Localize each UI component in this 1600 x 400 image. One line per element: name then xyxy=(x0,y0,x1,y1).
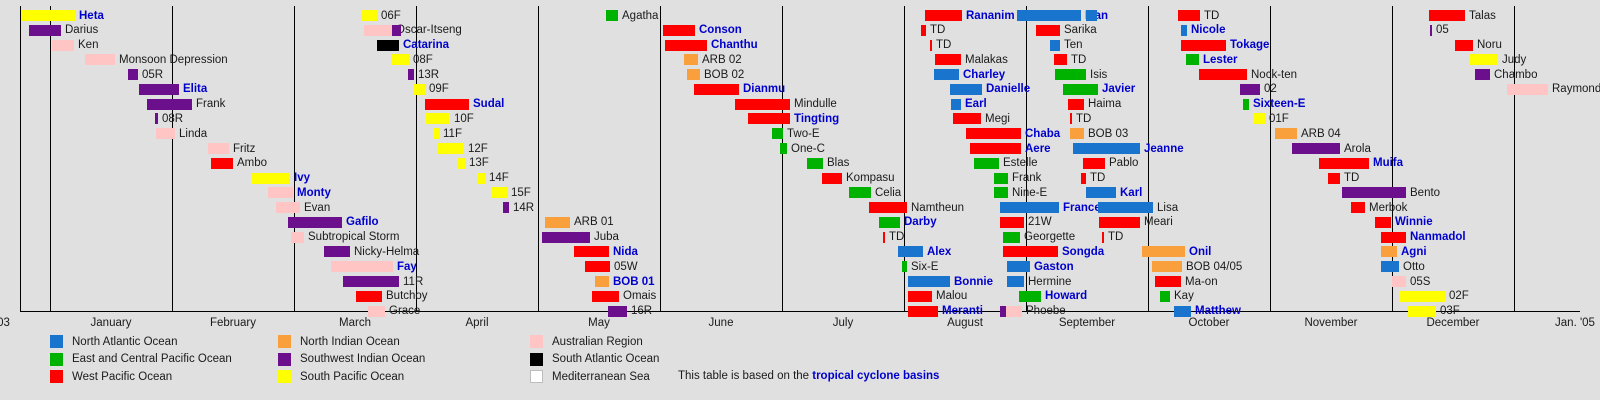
timeline-bar xyxy=(595,276,609,287)
timeline-bar xyxy=(1181,40,1226,51)
timeline-bar xyxy=(1319,158,1369,169)
timeline-bar xyxy=(1392,276,1406,287)
bar-label: 05 xyxy=(1436,25,1449,36)
bar-label: Muifa xyxy=(1373,158,1403,169)
timeline-bar xyxy=(1073,143,1140,154)
bar-label: 13R xyxy=(418,70,439,81)
timeline-bar xyxy=(950,84,982,95)
bar-label: Chaba xyxy=(1025,129,1060,140)
timeline-bar xyxy=(908,276,950,287)
timeline-bar xyxy=(1240,84,1260,95)
bar-label: Blas xyxy=(827,158,849,169)
bar-label: Matthew xyxy=(1195,306,1241,317)
bar-label: Subtropical Storm xyxy=(308,232,399,243)
timeline-bar xyxy=(251,173,290,184)
timeline-bar xyxy=(592,291,619,302)
bar-label: TD xyxy=(1076,114,1091,125)
month-label-september: September xyxy=(1059,317,1115,329)
month-label-july: July xyxy=(833,317,853,329)
bar-label: Onil xyxy=(1189,247,1211,258)
bar-label: Arola xyxy=(1344,144,1371,155)
bar-label: Songda xyxy=(1062,247,1104,258)
bar-label: 02 xyxy=(1264,84,1277,95)
gridline xyxy=(1514,6,1515,311)
bar-label: Nine-E xyxy=(1012,188,1047,199)
timeline-plot-area: HetaDariusKenMonsoon Depression05RElitaF… xyxy=(0,0,1600,312)
bar-label: Monsoon Depression xyxy=(119,55,228,66)
timeline-bar xyxy=(908,306,938,317)
gridline xyxy=(50,6,51,311)
bar-label: Frank xyxy=(1012,173,1041,184)
bar-label: ARB 02 xyxy=(702,55,742,66)
bar-label: Howard xyxy=(1045,291,1087,302)
timeline-bar xyxy=(1102,232,1104,243)
timeline-bar xyxy=(1081,173,1086,184)
timeline-bar xyxy=(331,261,393,272)
bar-label: Grace xyxy=(389,306,420,317)
timeline-bar xyxy=(343,276,399,287)
timeline-bar xyxy=(291,232,304,243)
bar-label: TD xyxy=(1344,173,1359,184)
bar-label: Sarika xyxy=(1064,25,1097,36)
bar-label: 08F xyxy=(413,55,433,66)
timeline-bar xyxy=(934,69,959,80)
bar-label: Dianmu xyxy=(743,84,785,95)
bar-label: TD xyxy=(1108,232,1123,243)
bar-label: Gaston xyxy=(1034,262,1074,273)
bar-label: Megi xyxy=(985,114,1010,125)
timeline-bar xyxy=(1470,54,1498,65)
timeline-bar xyxy=(139,84,179,95)
timeline-bar xyxy=(1328,173,1340,184)
bar-label: Fritz xyxy=(233,144,255,155)
timeline-bar xyxy=(1243,99,1249,110)
timeline-bar xyxy=(930,40,932,51)
bar-label: Karl xyxy=(1120,188,1142,199)
bar-label: Ten xyxy=(1064,40,1083,51)
month-label-jan-05: Jan. '05 xyxy=(1555,317,1595,329)
timeline-bar xyxy=(268,187,293,198)
timeline-bar xyxy=(879,217,900,228)
timeline-bar xyxy=(288,217,342,228)
month-label-january: January xyxy=(91,317,132,329)
timeline-bar xyxy=(608,306,627,317)
timeline-bar xyxy=(1152,261,1182,272)
bar-label: 05W xyxy=(614,262,638,273)
bar-label: 03F xyxy=(1440,306,1460,317)
timeline-bar xyxy=(1086,187,1116,198)
timeline-bar xyxy=(1178,10,1200,21)
timeline-bar xyxy=(849,187,871,198)
timeline-bar xyxy=(503,202,509,213)
bar-label: Phoebe xyxy=(1026,306,1066,317)
bar-label: Winnie xyxy=(1395,217,1433,228)
timeline-bar xyxy=(425,113,450,124)
timeline-bar xyxy=(974,158,999,169)
bar-label: Two-E xyxy=(787,129,820,140)
bar-label: Evan xyxy=(304,203,330,214)
month-label-may: May xyxy=(588,317,610,329)
timeline-bar xyxy=(1054,54,1067,65)
axis-tick xyxy=(660,305,661,312)
bar-label: Meranti xyxy=(942,306,983,317)
cyclone-timeline-chart: HetaDariusKenMonsoon Depression05RElitaF… xyxy=(0,0,1600,400)
timeline-bar xyxy=(1155,276,1181,287)
bar-label: Ambo xyxy=(237,158,267,169)
timeline-bar xyxy=(1000,202,1059,213)
bar-label: Monty xyxy=(297,188,331,199)
timeline-bar xyxy=(1430,25,1432,36)
bar-label: Kompasu xyxy=(846,173,895,184)
axis-tick xyxy=(294,305,295,312)
timeline-bar xyxy=(1253,113,1265,124)
bar-label: Kay xyxy=(1174,291,1194,302)
timeline-bar xyxy=(935,54,961,65)
month-label-november: November xyxy=(1304,317,1357,329)
bar-label: Merbok xyxy=(1369,203,1407,214)
timeline-bar xyxy=(663,25,695,36)
gridline xyxy=(294,6,295,311)
timeline-bar xyxy=(953,113,981,124)
bar-label: Conson xyxy=(699,25,742,36)
timeline-bar xyxy=(362,10,377,21)
timeline-bar xyxy=(1160,291,1170,302)
gridline xyxy=(1148,6,1149,311)
gridline xyxy=(538,6,539,311)
bar-label: 13F xyxy=(469,158,489,169)
timeline-bar xyxy=(1019,291,1041,302)
axis-tick xyxy=(50,305,51,312)
bar-label: TD xyxy=(936,40,951,51)
bar-label: Jeanne xyxy=(1144,144,1184,155)
legend-label: South Atlantic Ocean xyxy=(552,353,659,365)
timeline-bar xyxy=(1063,84,1098,95)
month-label-june: June xyxy=(709,317,734,329)
month-label-february: February xyxy=(210,317,256,329)
bar-label: Nanmadol xyxy=(1410,232,1466,243)
bar-label: 16R xyxy=(631,306,652,317)
legend-swatch xyxy=(278,353,291,366)
timeline-bar xyxy=(29,25,61,36)
timeline-bar xyxy=(1086,10,1097,21)
bar-label: 08R xyxy=(162,114,183,125)
bar-label: Judy xyxy=(1502,55,1526,66)
timeline-bar xyxy=(994,173,1008,184)
bar-label: Juba xyxy=(594,232,619,243)
bar-label: Pablo xyxy=(1109,158,1138,169)
bar-label: Elita xyxy=(183,84,207,95)
bar-label: Hermine xyxy=(1028,277,1071,288)
timeline-bar xyxy=(85,54,115,65)
bar-label: Chanthu xyxy=(711,40,758,51)
axis-tick xyxy=(172,305,173,312)
legend-item: Australian Region xyxy=(530,335,643,348)
legend-label: Southwest Indian Ocean xyxy=(300,353,425,365)
month-label-dec-03: Dec. '03 xyxy=(0,317,10,329)
bar-label: Lisa xyxy=(1157,203,1178,214)
timeline-bar xyxy=(1507,84,1548,95)
legend-swatch xyxy=(50,353,63,366)
bar-label: TD xyxy=(930,25,945,36)
legend-swatch xyxy=(278,335,291,348)
bar-label: Catarina xyxy=(403,40,449,51)
timeline-bar xyxy=(1068,99,1084,110)
bar-label: Isis xyxy=(1090,70,1107,81)
timeline-bar xyxy=(921,25,926,36)
timeline-bar xyxy=(1375,217,1391,228)
timeline-bar xyxy=(1070,113,1072,124)
timeline-bar xyxy=(392,54,409,65)
bar-label: Charley xyxy=(963,70,1005,81)
bar-label: Butchoy xyxy=(386,291,428,302)
timeline-bar xyxy=(925,10,962,21)
bar-label: Heta xyxy=(79,11,104,22)
legend-item: Southwest Indian Ocean xyxy=(278,353,425,366)
bar-label: Raymond xyxy=(1552,84,1600,95)
timeline-bar xyxy=(1007,276,1024,287)
bar-label: Ken xyxy=(78,40,98,51)
legend-label: Mediterranean Sea xyxy=(552,371,650,383)
timeline-bar xyxy=(606,10,618,21)
bar-label: Omais xyxy=(623,291,656,302)
legend-label: Australian Region xyxy=(552,336,643,348)
bar-label: BOB 02 xyxy=(704,70,744,81)
legend: North Atlantic OceanEast and Central Pac… xyxy=(0,332,1600,400)
bar-label: Nock-ten xyxy=(1251,70,1297,81)
bar-label: Tokage xyxy=(1230,40,1269,51)
bar-label: BOB 04/05 xyxy=(1186,262,1242,273)
timeline-bar xyxy=(1036,25,1060,36)
timeline-bar xyxy=(1007,261,1030,272)
timeline-bar xyxy=(155,113,158,124)
timeline-bar xyxy=(1429,10,1465,21)
bar-label: Agatha xyxy=(622,11,658,22)
axis-tick xyxy=(1392,305,1393,312)
bar-label: Ma-on xyxy=(1185,277,1218,288)
timeline-bar xyxy=(324,246,350,257)
bar-label: Talas xyxy=(1469,11,1496,22)
bar-label: ARB 04 xyxy=(1301,129,1341,140)
timeline-bar xyxy=(492,187,507,198)
bar-label: Noru xyxy=(1477,40,1502,51)
bar-label: ARB 01 xyxy=(574,217,614,228)
timeline-bar xyxy=(585,261,610,272)
timeline-bar xyxy=(1455,40,1473,51)
bar-label: Alex xyxy=(927,247,951,258)
bar-label: 21W xyxy=(1028,217,1052,228)
footnote-prefix: This table is based on the xyxy=(678,370,812,382)
timeline-bar xyxy=(438,143,464,154)
bar-label: BOB 01 xyxy=(613,277,655,288)
bar-label: Chambo xyxy=(1494,70,1537,81)
axis-tick xyxy=(1270,305,1271,312)
bar-label: One-C xyxy=(791,144,825,155)
bar-label: TD xyxy=(1071,55,1086,66)
legend-item: Mediterranean Sea xyxy=(530,370,650,383)
bar-label: 09F xyxy=(429,84,449,95)
axis-tick xyxy=(1514,305,1515,312)
axis-tick xyxy=(782,305,783,312)
bar-label: Nicole xyxy=(1191,25,1226,36)
legend-item: North Atlantic Ocean xyxy=(50,335,177,348)
legend-item: West Pacific Ocean xyxy=(50,370,172,383)
bar-label: Fay xyxy=(397,262,417,273)
bar-label: Six-E xyxy=(911,262,938,273)
legend-label: West Pacific Ocean xyxy=(72,371,172,383)
timeline-bar xyxy=(1083,158,1105,169)
bar-label: 12F xyxy=(468,144,488,155)
timeline-bar xyxy=(478,173,485,184)
timeline-bar xyxy=(694,84,739,95)
timeline-bar xyxy=(883,232,885,243)
timeline-bar xyxy=(898,246,923,257)
bar-label: Agni xyxy=(1401,247,1427,258)
timeline-bar xyxy=(1000,217,1024,228)
bar-label: Nida xyxy=(613,247,638,258)
legend-item: North Indian Ocean xyxy=(278,335,400,348)
timeline-bar xyxy=(1351,202,1365,213)
timeline-bar xyxy=(1275,128,1297,139)
footnote: This table is based on the tropical cycl… xyxy=(678,370,939,382)
bar-label: Bento xyxy=(1410,188,1440,199)
timeline-bar xyxy=(1381,261,1399,272)
timeline-bar xyxy=(392,25,401,36)
bar-label: 02F xyxy=(1449,291,1469,302)
timeline-bar xyxy=(1381,246,1397,257)
bar-label: TD xyxy=(1090,173,1105,184)
bar-label: 10F xyxy=(454,114,474,125)
bar-label: Mindulle xyxy=(794,99,837,110)
timeline-bar xyxy=(276,202,300,213)
timeline-bar xyxy=(684,54,698,65)
gridline xyxy=(782,6,783,311)
bar-label: Lester xyxy=(1203,55,1238,66)
bar-label: Javier xyxy=(1102,84,1135,95)
bar-label: Ivy xyxy=(294,173,310,184)
legend-label: North Indian Ocean xyxy=(300,336,400,348)
timeline-bar xyxy=(377,40,399,51)
tropical-cyclone-basins-link[interactable]: tropical cyclone basins xyxy=(812,370,939,382)
legend-item: South Atlantic Ocean xyxy=(530,353,659,366)
bar-label: Earl xyxy=(965,99,987,110)
timeline-bar xyxy=(1017,10,1081,21)
timeline-bar xyxy=(1400,291,1445,302)
axis-left-cap xyxy=(20,6,21,312)
timeline-bar xyxy=(1292,143,1340,154)
timeline-bar xyxy=(1342,187,1406,198)
bar-label: Otto xyxy=(1403,262,1425,273)
timeline-bar xyxy=(1142,246,1185,257)
bar-label: 05S xyxy=(1410,277,1430,288)
timeline-bar xyxy=(687,69,700,80)
bar-label: 06F xyxy=(381,11,401,22)
timeline-bar xyxy=(413,84,425,95)
timeline-bar xyxy=(356,291,382,302)
timeline-bar xyxy=(458,158,465,169)
month-label-april: April xyxy=(465,317,488,329)
gridline xyxy=(172,6,173,311)
month-label-march: March xyxy=(339,317,371,329)
timeline-bar xyxy=(128,69,138,80)
bar-label: Rananim xyxy=(966,11,1015,22)
bar-label: Namtheun xyxy=(911,203,964,214)
bar-label: Aere xyxy=(1025,144,1051,155)
timeline-bar xyxy=(869,202,907,213)
bar-label: 14R xyxy=(513,203,534,214)
timeline-bar xyxy=(368,306,385,317)
x-axis-line xyxy=(20,311,1580,312)
timeline-bar xyxy=(1475,69,1490,80)
bar-label: Estelle xyxy=(1003,158,1038,169)
timeline-bar xyxy=(1099,217,1140,228)
timeline-bar xyxy=(22,10,75,21)
timeline-bar xyxy=(52,40,74,51)
timeline-bar xyxy=(1050,40,1060,51)
timeline-bar xyxy=(665,40,707,51)
timeline-bar xyxy=(1070,128,1084,139)
bar-label: Tingting xyxy=(794,114,839,125)
bar-label: Malou xyxy=(936,291,967,302)
timeline-bar xyxy=(211,158,233,169)
bar-label: BOB 03 xyxy=(1088,129,1128,140)
timeline-bar xyxy=(1381,232,1406,243)
bar-label: Meari xyxy=(1144,217,1173,228)
bar-label: 11F xyxy=(443,129,462,140)
month-label-october: October xyxy=(1189,317,1230,329)
bar-label: Haima xyxy=(1088,99,1121,110)
timeline-bar xyxy=(994,187,1008,198)
timeline-bar xyxy=(542,232,590,243)
legend-label: North Atlantic Ocean xyxy=(72,336,177,348)
axis-tick xyxy=(20,305,21,312)
bar-label: Sixteen-E xyxy=(1253,99,1305,110)
timeline-bar xyxy=(1181,25,1187,36)
bar-label: TD xyxy=(1204,11,1219,22)
timeline-bar xyxy=(408,69,414,80)
legend-label: East and Central Pacific Ocean xyxy=(72,353,232,365)
timeline-bar xyxy=(364,25,392,36)
bar-label: Celia xyxy=(875,188,901,199)
timeline-bar xyxy=(748,113,790,124)
timeline-bar xyxy=(147,99,192,110)
bar-label: 01F xyxy=(1269,114,1289,125)
bar-label: Gafilo xyxy=(346,217,379,228)
timeline-bar xyxy=(1174,306,1191,317)
axis-tick xyxy=(538,305,539,312)
legend-swatch xyxy=(278,370,291,383)
timeline-bar xyxy=(1006,306,1022,317)
gridline xyxy=(1270,6,1271,311)
bar-label: Sudal xyxy=(473,99,504,110)
bar-label: Malakas xyxy=(965,55,1008,66)
timeline-bar xyxy=(433,128,439,139)
timeline-bar xyxy=(966,128,1021,139)
legend-label: South Pacific Ocean xyxy=(300,371,404,383)
bar-label: TD xyxy=(889,232,904,243)
month-label-december: December xyxy=(1426,317,1479,329)
timeline-bar xyxy=(908,291,932,302)
legend-swatch xyxy=(530,370,543,383)
timeline-bar xyxy=(208,143,229,154)
legend-swatch xyxy=(50,335,63,348)
timeline-bar xyxy=(772,128,783,139)
axis-tick xyxy=(904,305,905,312)
bar-label: 14F xyxy=(489,173,509,184)
timeline-bar xyxy=(545,217,570,228)
legend-swatch xyxy=(50,370,63,383)
bar-label: Frank xyxy=(196,99,225,110)
timeline-bar xyxy=(574,246,609,257)
